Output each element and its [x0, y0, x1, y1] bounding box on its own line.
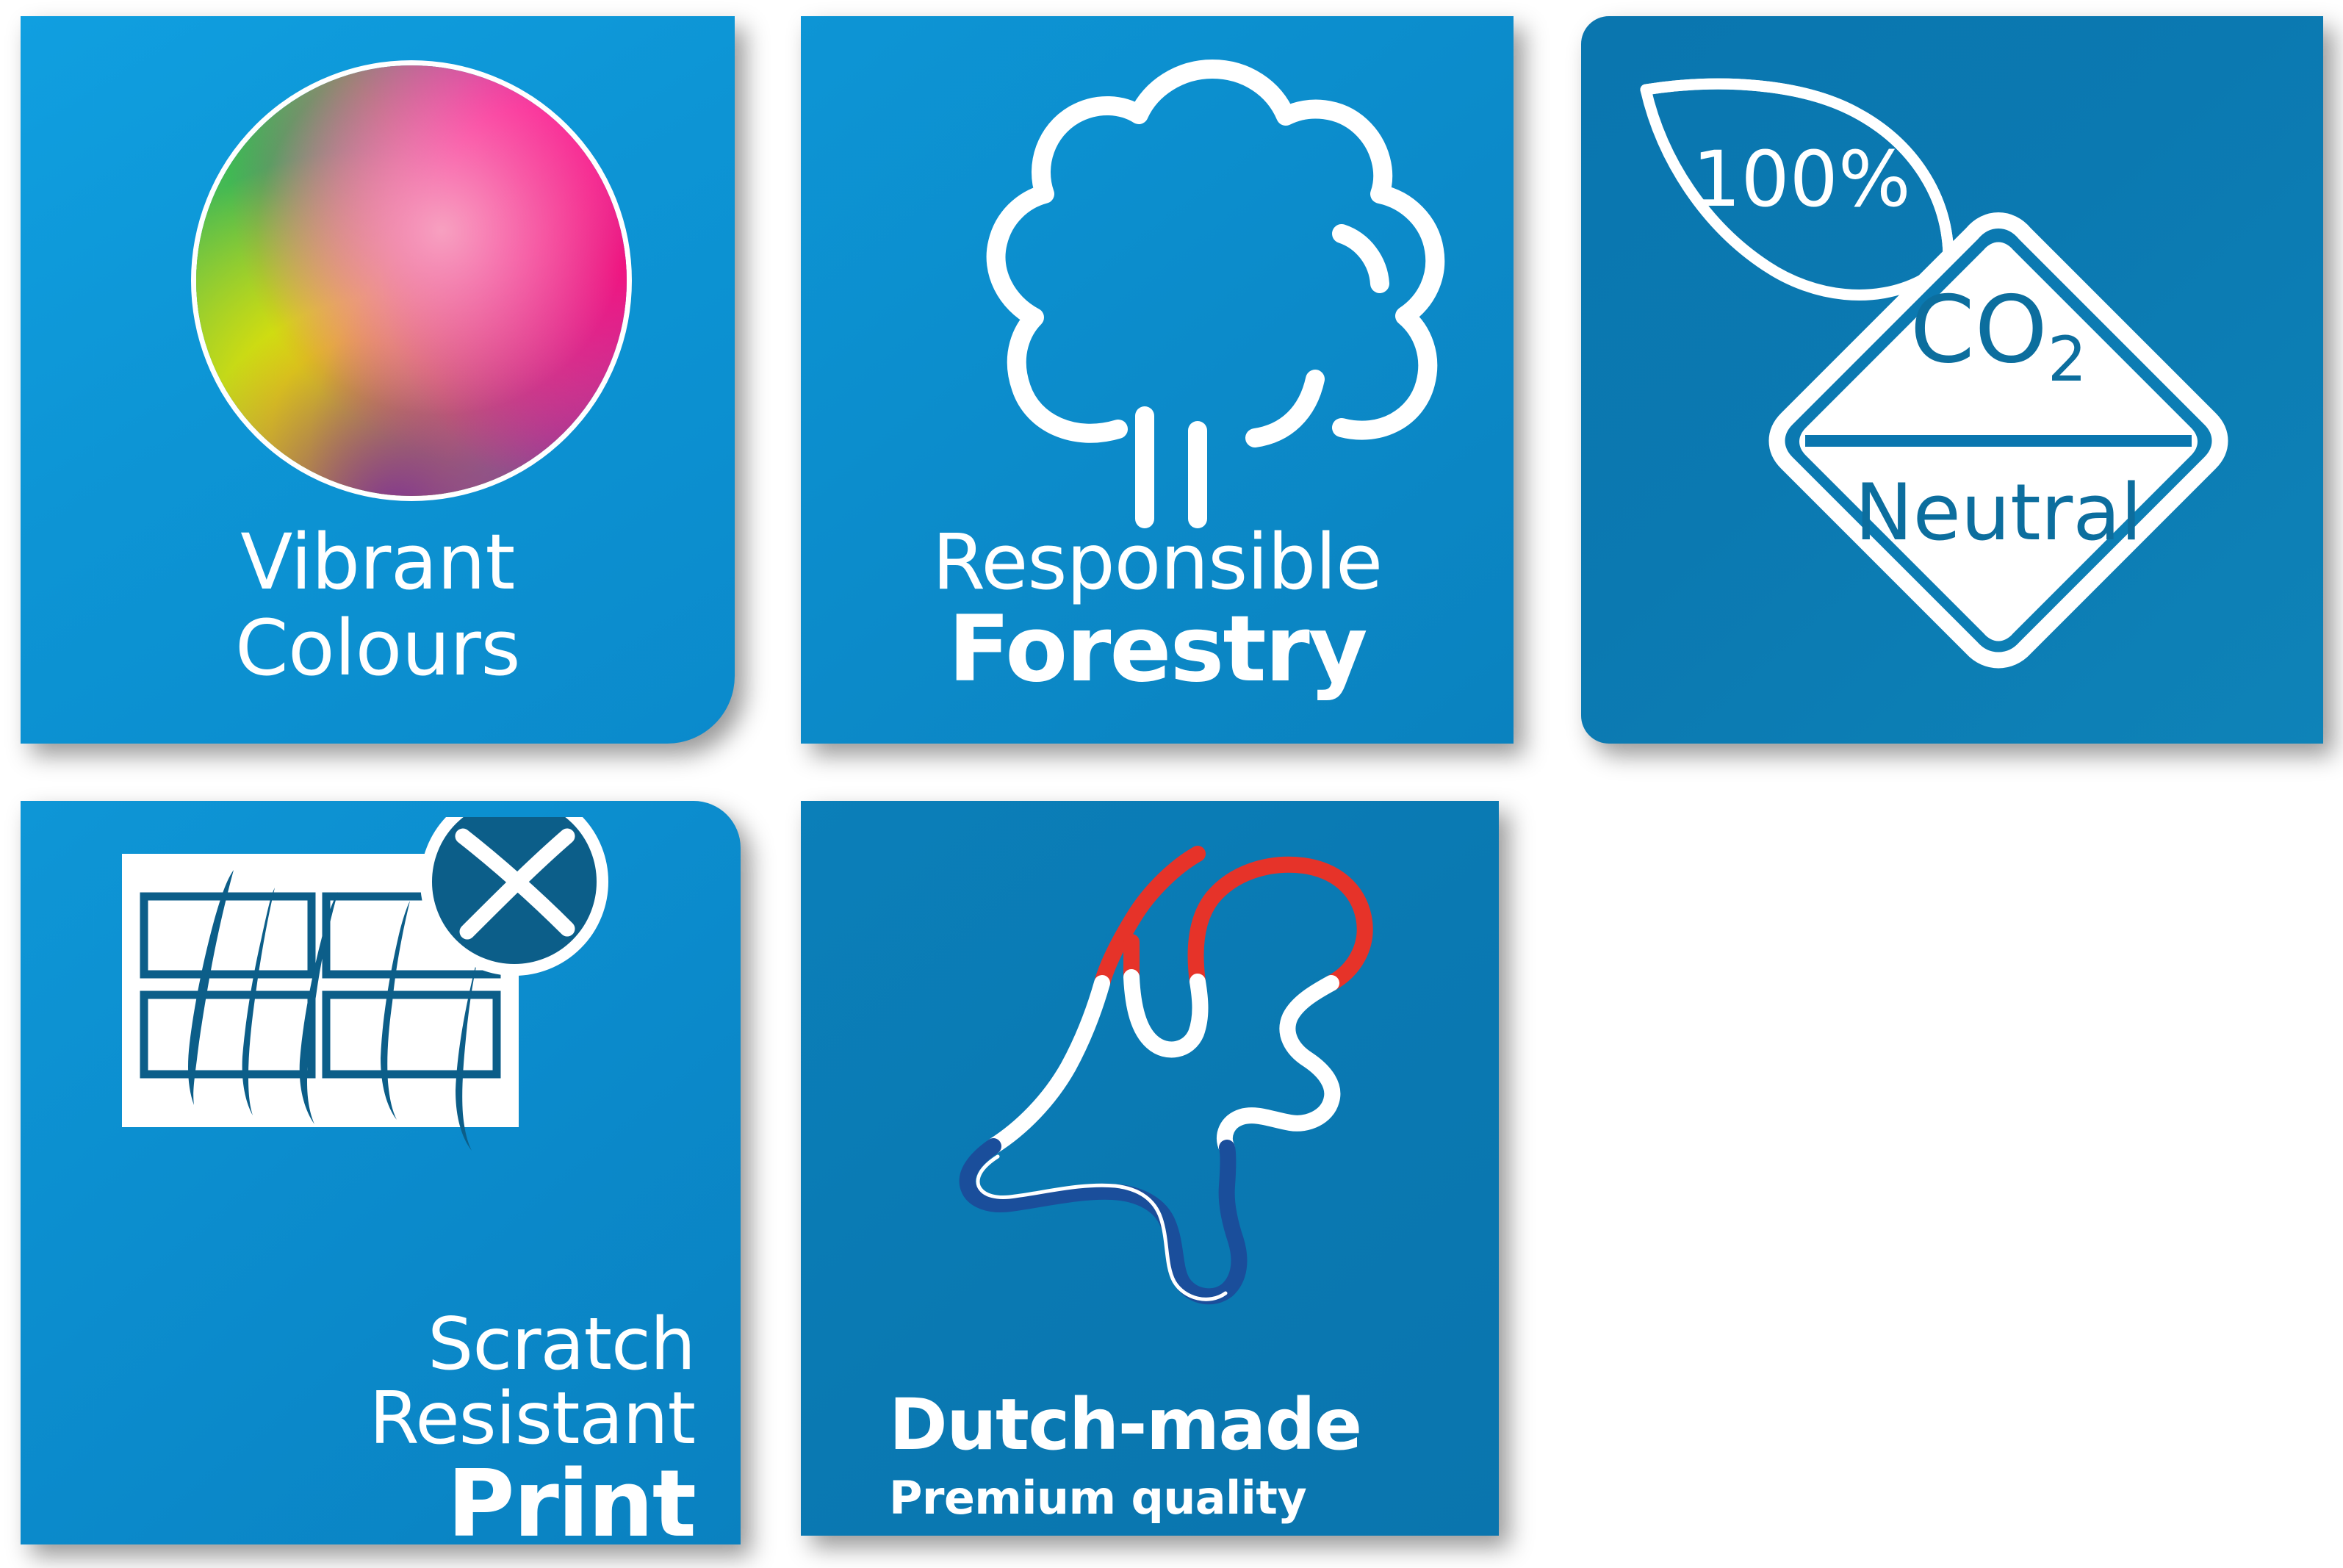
tile-scratch-resistant-print[interactable]: Scratch Resistant Print [21, 801, 741, 1544]
tile-caption: Responsible Forestry [801, 523, 1514, 697]
percent-label: 100% [1692, 134, 1910, 224]
neutral-label: Neutral [1854, 467, 2142, 558]
tile-caption: Scratch Resistant Print [21, 1308, 741, 1552]
tile-dutch-made[interactable]: Dutch-made Premium quality [801, 801, 1499, 1536]
map-outline-white-inlet [1131, 977, 1201, 1049]
badge-tile-board: Vibrant Colours Responsible Forestry [0, 0, 2343, 1568]
map-outline-red-west [1102, 854, 1198, 983]
caption-line-2: Colours [21, 609, 735, 688]
map-outline-white-east [1225, 983, 1332, 1148]
caption-line-1: Scratch [21, 1308, 695, 1382]
tile-responsible-forestry[interactable]: Responsible Forestry [801, 16, 1514, 744]
caption-line-1: Vibrant [21, 523, 735, 602]
map-outline-blue-south [968, 1146, 1239, 1296]
co2-neutral-leaf-icon: CO2 Neutral 100% [1581, 16, 2323, 744]
caption-line-3: Print [21, 1456, 695, 1552]
tile-caption: Dutch-made Premium quality [889, 1389, 1587, 1522]
caption-line-1: Dutch-made [889, 1389, 1587, 1461]
co2-label: CO2 [1910, 276, 2087, 395]
map-outline-red-east [1195, 865, 1364, 983]
map-outline-white-west [993, 983, 1102, 1146]
scratched-panel-icon [21, 817, 741, 1331]
co2-diamond: CO2 Neutral [1777, 220, 2220, 661]
tile-co2-neutral[interactable]: CO2 Neutral 100% [1581, 16, 2323, 744]
colour-sphere-icon [191, 60, 632, 501]
caption-line-2: Resistant [21, 1382, 695, 1456]
caption-line-1: Responsible [801, 523, 1514, 602]
tile-vibrant-colours[interactable]: Vibrant Colours [21, 16, 735, 744]
caption-line-2: Premium quality [889, 1475, 1587, 1522]
caption-line-2: Forestry [801, 603, 1514, 697]
tile-caption: Vibrant Colours [21, 523, 735, 695]
netherlands-map-icon [801, 808, 1499, 1396]
tree-icon [801, 34, 1514, 548]
